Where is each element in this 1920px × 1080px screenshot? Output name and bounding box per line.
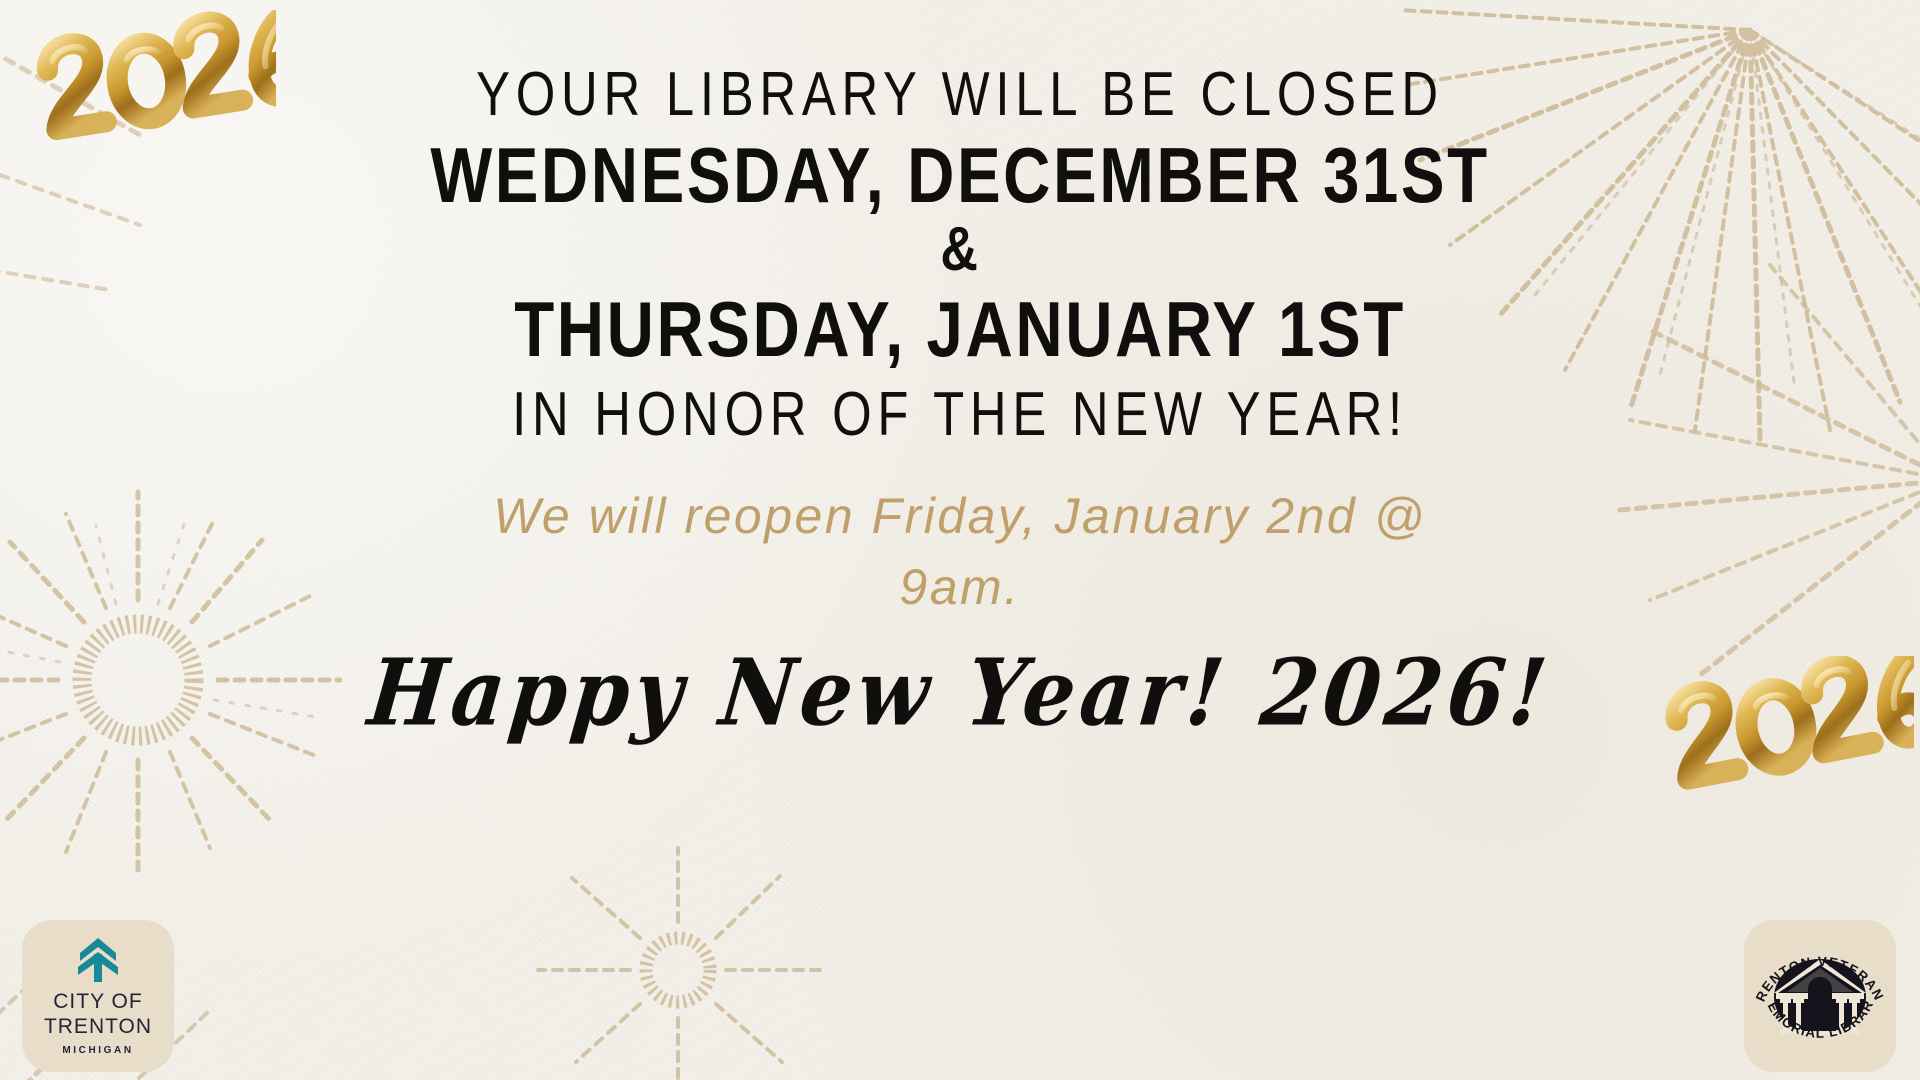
ampersand-separator: & bbox=[154, 219, 1767, 281]
headline-closed: YOUR LIBRARY WILL BE CLOSED bbox=[173, 62, 1747, 127]
library-seal-graphic: TRENTON VETERANS MEMORIAL LIBRARY bbox=[1750, 931, 1890, 1061]
announcement-text-block: YOUR LIBRARY WILL BE CLOSED WEDNESDAY, D… bbox=[0, 62, 1920, 741]
firework-burst-bottom-center-icon bbox=[420, 790, 940, 1080]
headline-honor: IN HONOR OF THE NEW YEAR! bbox=[173, 382, 1747, 447]
city-logo-line-1: CITY OF bbox=[53, 990, 142, 1014]
city-logo-line-3: MICHIGAN bbox=[62, 1045, 133, 1056]
new-year-closure-poster: YOUR LIBRARY WILL BE CLOSED WEDNESDAY, D… bbox=[0, 0, 1920, 1080]
closure-date-second: THURSDAY, JANUARY 1ST bbox=[154, 287, 1767, 371]
greeting-script: Happy New Year! 2026! bbox=[0, 639, 1920, 747]
closure-date-first: WEDNESDAY, DECEMBER 31ST bbox=[154, 133, 1767, 217]
tree-arrow-icon bbox=[71, 936, 125, 984]
city-of-trenton-logo: CITY OF TRENTON MICHIGAN bbox=[22, 920, 174, 1072]
city-logo-line-2: TRENTON bbox=[44, 1015, 152, 1039]
reopening-note: We will reopen Friday, January 2nd @ 9am… bbox=[470, 481, 1450, 623]
trenton-veterans-memorial-library-seal: TRENTON VETERANS MEMORIAL LIBRARY bbox=[1744, 920, 1896, 1072]
